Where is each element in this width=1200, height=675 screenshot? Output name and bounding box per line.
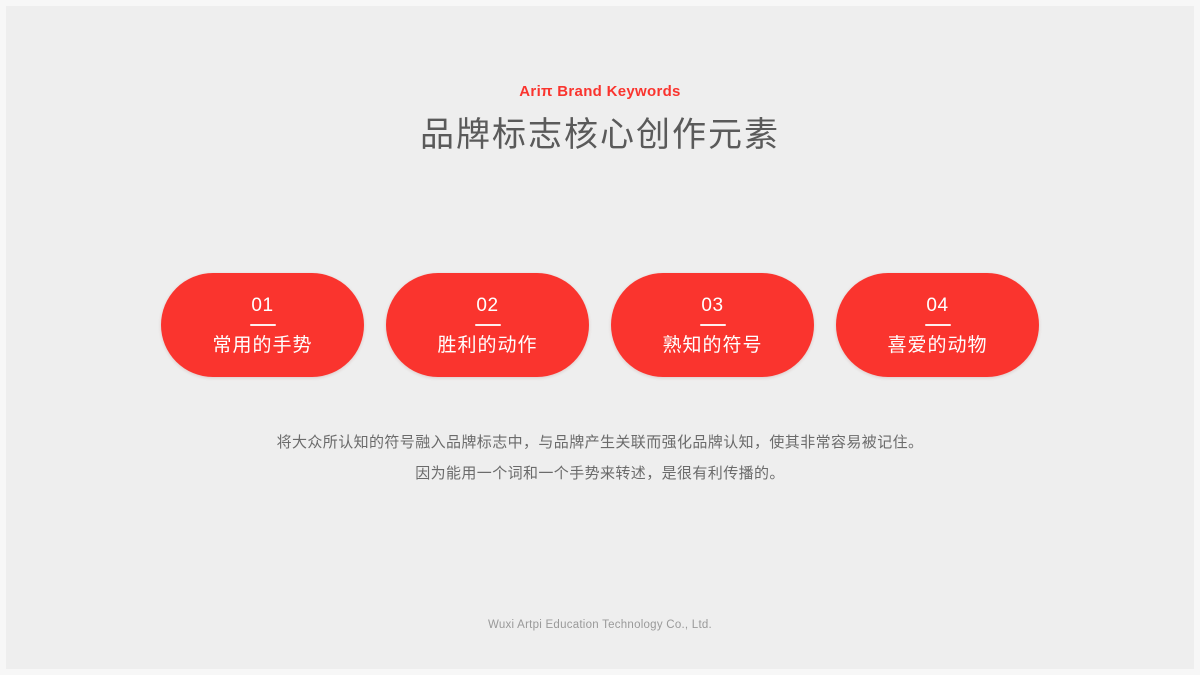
card-number: 01	[251, 296, 273, 315]
keyword-card-03[interactable]: 03 熟知的符号	[611, 273, 814, 377]
description-block: 将大众所认知的符号融入品牌标志中，与品牌产生关联而强化品牌认知，使其非常容易被记…	[6, 427, 1194, 489]
keyword-card-02[interactable]: 02 胜利的动作	[386, 273, 589, 377]
card-number: 04	[926, 296, 948, 315]
card-divider	[250, 324, 276, 326]
slide-header: Ariπ Brand Keywords 品牌标志核心创作元素	[420, 84, 780, 155]
card-number: 03	[701, 296, 723, 315]
keyword-card-01[interactable]: 01 常用的手势	[161, 273, 364, 377]
card-divider	[475, 324, 501, 326]
card-label: 喜爱的动物	[887, 336, 987, 355]
card-label: 熟知的符号	[662, 336, 762, 355]
description-line-2: 因为能用一个词和一个手势来转述，是很有利传播的。	[6, 458, 1194, 489]
slide-canvas: Ariπ Brand Keywords 品牌标志核心创作元素 01 常用的手势 …	[0, 0, 1200, 675]
brand-eyebrow: Ariπ Brand Keywords	[420, 84, 780, 99]
description-line-1: 将大众所认知的符号融入品牌标志中，与品牌产生关联而强化品牌认知，使其非常容易被记…	[6, 427, 1194, 458]
keyword-card-04[interactable]: 04 喜爱的动物	[836, 273, 1039, 377]
keyword-card-list: 01 常用的手势 02 胜利的动作 03 熟知的符号 04 喜爱的动物	[6, 273, 1194, 377]
card-divider	[700, 324, 726, 326]
card-label: 常用的手势	[212, 336, 312, 355]
card-label: 胜利的动作	[437, 336, 537, 355]
footer-copyright: Wuxi Artpi Education Technology Co., Ltd…	[6, 619, 1194, 631]
card-divider	[925, 324, 951, 326]
card-number: 02	[476, 296, 498, 315]
page-title: 品牌标志核心创作元素	[420, 115, 780, 155]
